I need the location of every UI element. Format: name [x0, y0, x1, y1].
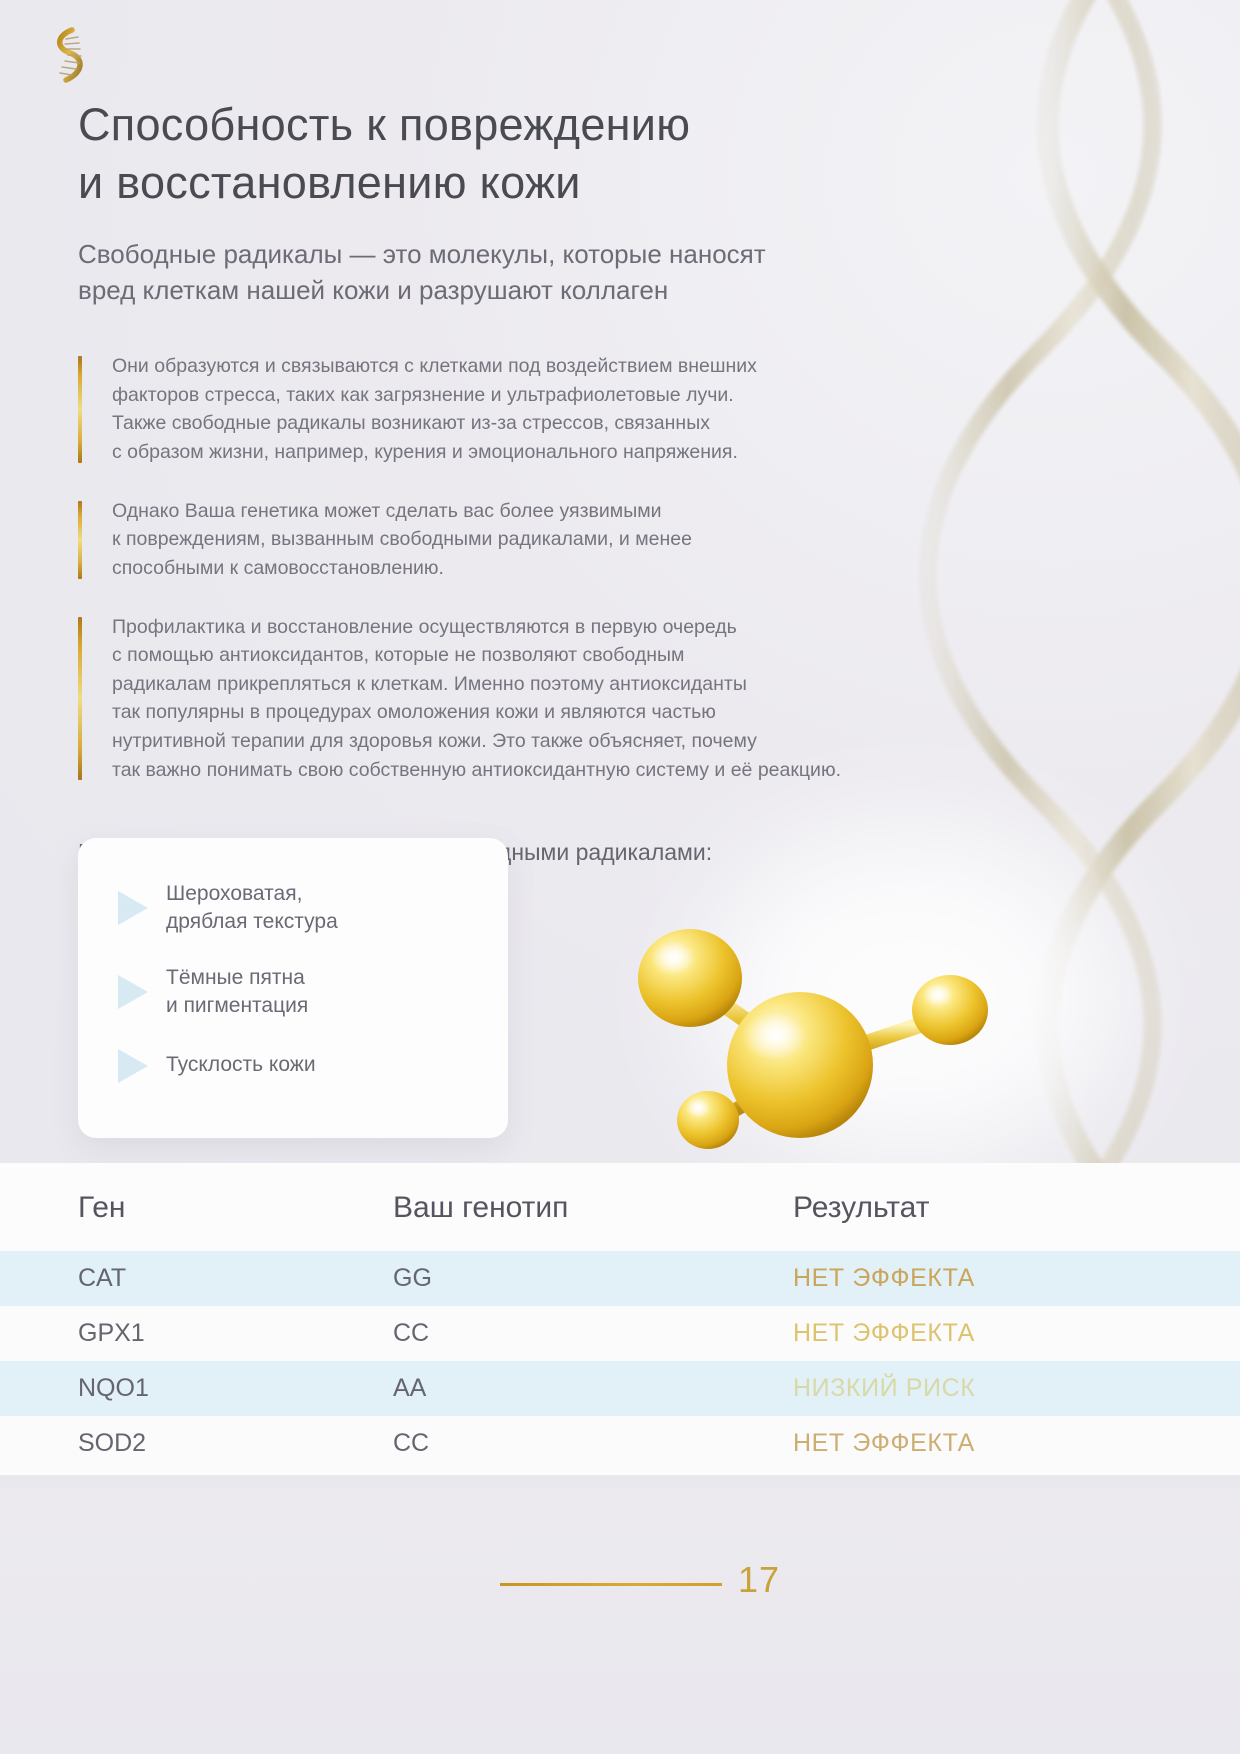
sign-item: Шероховатая, дряблая текстура: [104, 880, 482, 936]
cell-gene: CAT: [0, 1251, 393, 1306]
table-row: NQO1 AA НИЗКИЙ РИСК: [0, 1361, 1240, 1416]
paragraph-block: Однако Ваша генетика может сделать вас б…: [78, 497, 958, 583]
cell-result: НЕТ ЭФФЕКТА: [793, 1306, 1240, 1361]
table-row: GPX1 CC НЕТ ЭФФЕКТА: [0, 1306, 1240, 1361]
cell-genotype: GG: [393, 1251, 793, 1306]
gold-accent-bar: [78, 356, 82, 463]
column-header-result: Результат: [793, 1163, 1240, 1251]
sign-label: Шероховатая, дряблая текстура: [166, 880, 338, 936]
cell-genotype: CC: [393, 1306, 793, 1361]
triangle-bullet-icon: [118, 1049, 148, 1083]
cell-gene: SOD2: [0, 1416, 393, 1471]
paragraph-block: Они образуются и связываются с клетками …: [78, 352, 958, 467]
sign-item: Тёмные пятна и пигментация: [104, 964, 482, 1020]
genotype-results-table: Ген Ваш генотип Результат CAT GG НЕТ ЭФФ…: [0, 1163, 1240, 1475]
footer-gold-rule: [500, 1583, 722, 1586]
paragraph-text: Профилактика и восстановление осуществля…: [112, 613, 958, 785]
cell-genotype: CC: [393, 1416, 793, 1471]
cell-result: НИЗКИЙ РИСК: [793, 1361, 1240, 1416]
page-subtitle: Свободные радикалы — это молекулы, котор…: [78, 237, 958, 308]
table-header-row: Ген Ваш генотип Результат: [0, 1163, 1240, 1251]
visible-signs-card: Шероховатая, дряблая текстура Тёмные пят…: [78, 838, 508, 1138]
gold-accent-bar: [78, 501, 82, 579]
table-row: SOD2 CC НЕТ ЭФФЕКТА: [0, 1416, 1240, 1471]
table-row: CAT GG НЕТ ЭФФЕКТА: [0, 1251, 1240, 1306]
report-page: Способность к повреждению и восстановлен…: [0, 0, 1240, 1754]
page-title: Способность к повреждению и восстановлен…: [78, 96, 958, 211]
paragraph-text: Они образуются и связываются с клетками …: [112, 352, 958, 467]
column-header-genotype: Ваш генотип: [393, 1163, 793, 1251]
cell-result: НЕТ ЭФФЕКТА: [793, 1416, 1240, 1471]
triangle-bullet-icon: [118, 975, 148, 1009]
paragraph-list: Они образуются и связываются с клетками …: [78, 352, 958, 785]
dna-helix-logo-icon: [38, 22, 98, 88]
sign-label: Тёмные пятна и пигментация: [166, 964, 308, 1020]
page-footer: 17: [0, 1489, 1240, 1754]
main-content: Способность к повреждению и восстановлен…: [78, 96, 958, 868]
paragraph-text: Однако Ваша генетика может сделать вас б…: [112, 497, 958, 583]
cell-gene: GPX1: [0, 1306, 393, 1361]
table-body: CAT GG НЕТ ЭФФЕКТА GPX1 CC НЕТ ЭФФЕКТА N…: [0, 1251, 1240, 1471]
cell-gene: NQO1: [0, 1361, 393, 1416]
cell-result: НЕТ ЭФФЕКТА: [793, 1251, 1240, 1306]
cell-genotype: AA: [393, 1361, 793, 1416]
results-table: Ген Ваш генотип Результат CAT GG НЕТ ЭФФ…: [0, 1163, 1240, 1471]
table-head: Ген Ваш генотип Результат: [0, 1163, 1240, 1251]
sign-item: Тусклость кожи: [104, 1049, 482, 1083]
page-number: 17: [738, 1559, 780, 1601]
sign-label: Тусклость кожи: [166, 1051, 316, 1079]
triangle-bullet-icon: [118, 891, 148, 925]
gold-accent-bar: [78, 617, 82, 781]
paragraph-block: Профилактика и восстановление осуществля…: [78, 613, 958, 785]
column-header-gene: Ген: [0, 1163, 393, 1251]
